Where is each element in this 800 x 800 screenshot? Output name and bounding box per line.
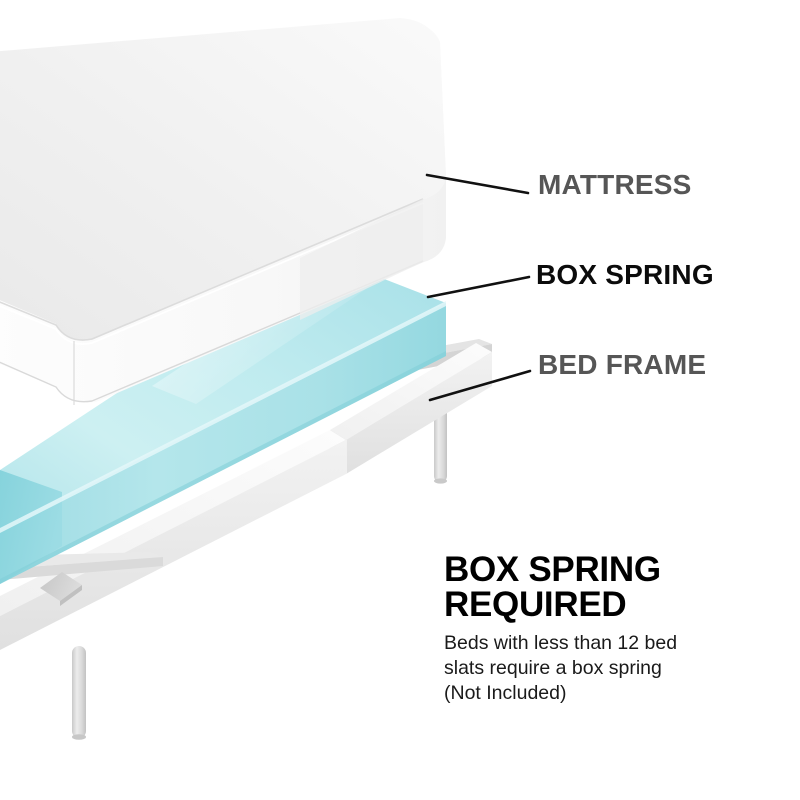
leader-line-box-spring	[428, 277, 529, 297]
bed-frame-leg-left	[72, 646, 86, 740]
box-spring-required-note: BOX SPRING REQUIRED Beds with less than …	[444, 552, 784, 706]
note-body-line1: Beds with less than 12 bed	[444, 631, 784, 656]
note-body: Beds with less than 12 bed slats require…	[444, 631, 784, 706]
callout-label-bed-frame: BED FRAME	[538, 349, 706, 381]
note-heading-line2: REQUIRED	[444, 587, 784, 622]
note-body-line3: (Not Included)	[444, 681, 784, 706]
note-heading-line1: BOX SPRING	[444, 550, 661, 589]
product-diagram-canvas: MATTRESS BOX SPRING BED FRAME BOX SPRING…	[0, 0, 800, 800]
callout-label-mattress: MATTRESS	[538, 169, 692, 201]
note-heading: BOX SPRING REQUIRED	[444, 552, 784, 622]
callout-label-box-spring: BOX SPRING	[536, 259, 714, 291]
note-body-line2: slats require a box spring	[444, 656, 784, 681]
